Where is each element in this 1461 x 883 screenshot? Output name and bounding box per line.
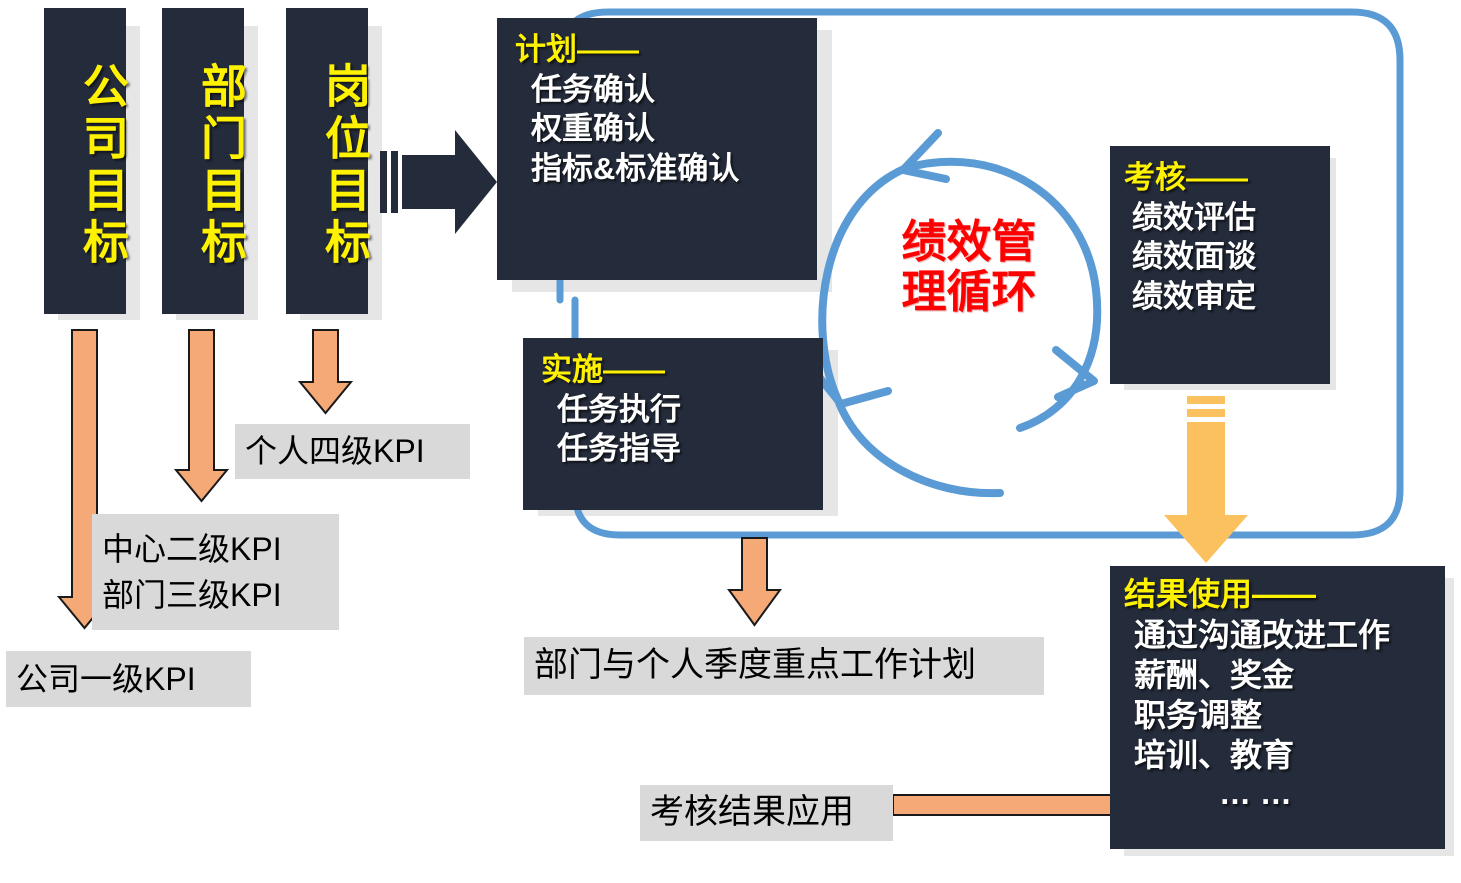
panel-result-line-3: 职务调整 <box>1124 695 1445 735</box>
panel-result[interactable]: 结果使用—— 通过沟通改进工作 薪酬、奖金 职务调整 培训、教育 … … <box>1110 566 1445 849</box>
panel-result-line-1: 通过沟通改进工作 <box>1124 615 1445 655</box>
panel-plan-line-2: 权重确认 <box>515 109 817 149</box>
panel-result-head: 结果使用—— <box>1124 574 1445 615</box>
gold-tail-bar-1 <box>1187 396 1225 404</box>
panel-result-line-4: 培训、教育 <box>1124 735 1445 775</box>
diagram-canvas: 公司目标 部门目标 岗位目标 计划—— 任务确认 权重确认 指标&标准确认 <box>0 0 1461 883</box>
panel-assess-head: 考核—— <box>1124 158 1330 198</box>
arrow-assess-to-result <box>1164 422 1248 563</box>
panel-result-line-2: 薪酬、奖金 <box>1124 655 1445 695</box>
panel-assess-line-1: 绩效评估 <box>1124 198 1330 238</box>
panel-execute-line-1: 任务执行 <box>541 390 823 430</box>
chip-result-application[interactable]: 考核结果应用 <box>640 785 893 841</box>
panel-plan-line-1: 任务确认 <box>515 70 817 110</box>
panel-execute-line-2: 任务指导 <box>541 429 823 469</box>
panel-execute[interactable]: 实施—— 任务执行 任务指导 <box>523 338 823 510</box>
panel-plan[interactable]: 计划—— 任务确认 权重确认 指标&标准确认 <box>497 18 817 280</box>
chip-result-application-label: 考核结果应用 <box>650 791 883 835</box>
panel-assess[interactable]: 考核—— 绩效评估 绩效面谈 绩效审定 <box>1110 146 1330 384</box>
panel-plan-line-3: 指标&标准确认 <box>515 149 817 189</box>
panel-result-dots: … … <box>1124 775 1445 812</box>
panel-execute-head: 实施—— <box>541 350 823 390</box>
panel-assess-line-2: 绩效面谈 <box>1124 237 1330 277</box>
gold-tail-bar-2 <box>1187 409 1225 417</box>
panel-plan-head: 计划—— <box>515 30 817 70</box>
panel-assess-line-3: 绩效审定 <box>1124 277 1330 317</box>
